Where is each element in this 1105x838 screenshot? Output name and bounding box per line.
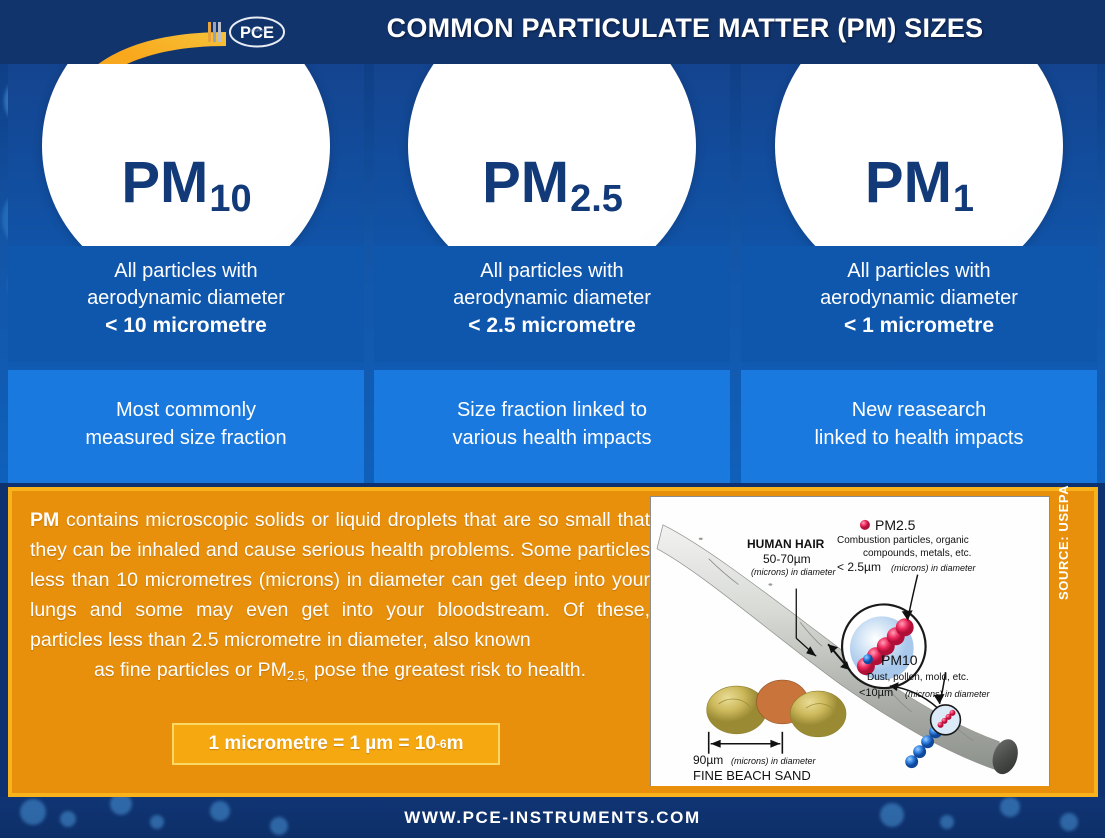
diagram-hair-size: 50-70µm <box>763 552 811 566</box>
pm-card-desc-line2: aerodynamic diameter <box>741 285 1097 312</box>
pm-card-note-line2: measured size fraction <box>8 424 364 452</box>
diagram-pm25-size: < 2.5µm <box>837 560 881 574</box>
pm-card-desc-line3: < 10 micrometre <box>8 312 364 339</box>
pm-card-label-main: PM <box>482 150 569 215</box>
pm-card-desc-line1: All particles with <box>8 258 364 285</box>
info-last-pre: as fine particles or PM <box>94 659 287 681</box>
diagram-hair-note: (microns) in diameter <box>751 567 836 577</box>
pm-card-label: PM2.5 <box>374 154 730 212</box>
formula-pre: 1 micrometre = 1 µm = 10 <box>208 733 435 755</box>
pm-card-note-line1: Size fraction linked to <box>374 396 730 424</box>
pm-card-note-line2: various health impacts <box>374 424 730 452</box>
pm-card-description: All particles with aerodynamic diameter … <box>741 246 1097 362</box>
info-last-line: as fine particles or PM2.5, pose the gre… <box>30 655 650 687</box>
diagram-sand-note: (microns) in diameter <box>731 756 816 766</box>
pm-card-label: PM1 <box>741 154 1097 212</box>
page-title: COMMON PARTICULATE MATTER (PM) SIZES <box>305 13 1065 44</box>
diagram-pm10-size: <10µm <box>859 687 893 699</box>
diagram-source: SOURCE: USEPA <box>1056 485 1071 600</box>
diagram-pm25-title: PM2.5 <box>875 517 915 533</box>
pm-card-label: PM10 <box>8 154 364 212</box>
header-bar: PCE Instruments COMMON PARTICULATE MATTE… <box>0 0 1105 64</box>
diagram-sand-title: FINE BEACH SAND <box>693 768 811 783</box>
diagram-pm10-desc1: Dust, pollen, mold, etc. <box>867 672 969 683</box>
info-last-sub: 2.5, <box>287 668 309 683</box>
pm-cards-section: PM10 All particles with aerodynamic diam… <box>0 64 1105 483</box>
info-last-post: pose the greatest risk to health. <box>309 659 587 681</box>
infographic-page: PCE Instruments COMMON PARTICULATE MATTE… <box>0 0 1105 838</box>
svg-text:Instruments: Instruments <box>249 29 268 33</box>
formula-badge: 1 micrometre = 1 µm = 10-6 m <box>172 723 500 765</box>
pm-card-note-line1: Most commonly <box>8 396 364 424</box>
diagram-hair-title: HUMAN HAIR <box>747 537 824 551</box>
info-body: contains microscopic solids or liquid dr… <box>30 509 650 651</box>
pm-card-note: Size fraction linked to various health i… <box>374 370 730 483</box>
info-paragraph: PM contains microscopic solids or liquid… <box>30 505 650 687</box>
formula-post: m <box>447 733 464 755</box>
footer-bar: WWW.PCE-INSTRUMENTS.COM <box>0 797 1105 838</box>
pm-card-desc-line2: aerodynamic diameter <box>374 285 730 312</box>
pm-card-pm10[interactable]: PM10 All particles with aerodynamic diam… <box>8 64 364 483</box>
diagram-pm10-note: (microns) in diameter <box>905 689 990 699</box>
diagram-pm25-desc2: compounds, metals, etc. <box>863 548 971 559</box>
pm-card-desc-line1: All particles with <box>741 258 1097 285</box>
pce-logo-icon: PCE Instruments <box>229 16 285 48</box>
diagram-sand-size: 90µm <box>693 753 723 767</box>
pm-card-note-line1: New reasearch <box>741 396 1097 424</box>
pm-card-description: All particles with aerodynamic diameter … <box>8 246 364 362</box>
diagram-pm25-note: (microns) in diameter <box>891 563 976 573</box>
pm-card-description: All particles with aerodynamic diameter … <box>374 246 730 362</box>
diagram-pm10-title: PM10 <box>881 652 918 668</box>
pm-card-note: New reasearch linked to health impacts <box>741 370 1097 483</box>
pm-card-note-line2: linked to health impacts <box>741 424 1097 452</box>
pm-card-label-sub: 2.5 <box>570 178 623 220</box>
pm-card-pm1[interactable]: PM1 All particles with aerodynamic diame… <box>741 64 1097 483</box>
pm-card-pm25[interactable]: PM2.5 All particles with aerodynamic dia… <box>374 64 730 483</box>
svg-text:PCE: PCE <box>240 24 274 42</box>
pm-card-desc-line3: < 1 micrometre <box>741 312 1097 339</box>
formula-exponent: -6 <box>436 737 447 751</box>
pm-card-label-main: PM <box>121 150 208 215</box>
footer-website-url[interactable]: WWW.PCE-INSTRUMENTS.COM <box>0 808 1105 828</box>
usepa-diagram-frame: HUMAN HAIR 50-70µm (microns) in diameter… <box>650 496 1050 786</box>
info-lead-bold: PM <box>30 509 59 531</box>
pm-card-note: Most commonly measured size fraction <box>8 370 364 483</box>
pm-card-desc-line1: All particles with <box>374 258 730 285</box>
diagram-pm25-desc1: Combustion particles, organic <box>837 535 969 546</box>
pm-card-label-sub: 10 <box>209 178 251 220</box>
pm-card-label-sub: 1 <box>953 178 974 220</box>
pm-card-label-main: PM <box>865 150 952 215</box>
logo-bars-icon <box>208 22 226 42</box>
pm-card-desc-line2: aerodynamic diameter <box>8 285 364 312</box>
pm-card-desc-line3: < 2.5 micrometre <box>374 312 730 339</box>
